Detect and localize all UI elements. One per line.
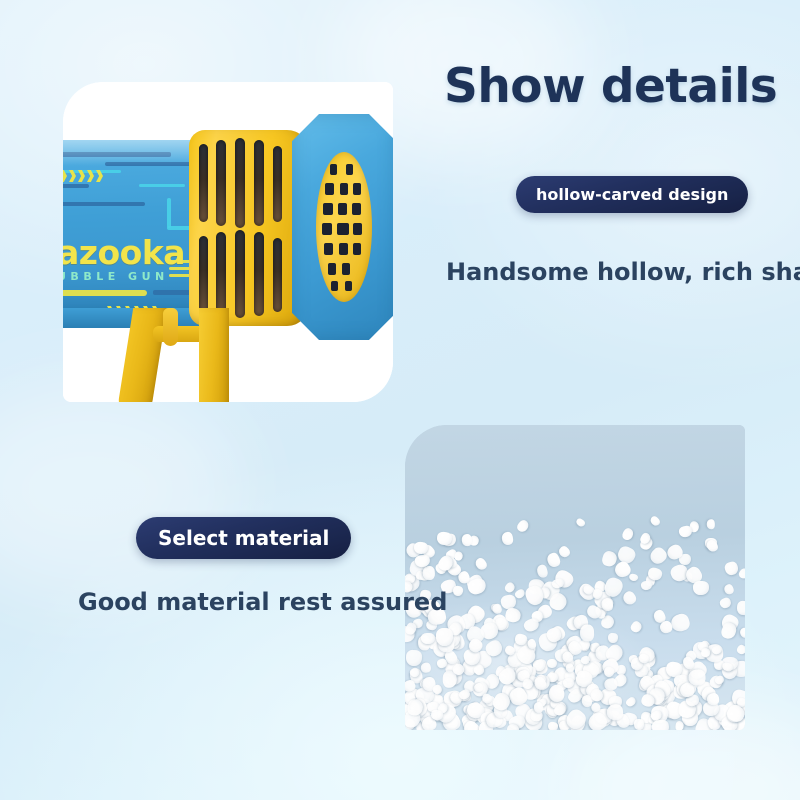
pellet [580,694,592,707]
pellet [608,633,619,644]
product-photo-card: azooka UBBLE GUN [63,82,393,402]
hollow-carved-grille [316,152,372,302]
pellet [575,517,586,528]
pellet [648,515,661,528]
pellet [607,703,624,720]
pellet [670,612,692,634]
badge-select-material: Select material [136,517,351,559]
pellet [641,580,653,590]
pellet [461,533,472,546]
gun-muzzle-plate [292,114,393,340]
pellet [515,518,531,534]
pellet [533,701,543,713]
pellet [421,633,435,644]
pellet [421,662,432,674]
gun-grip [199,308,229,402]
pellet-pile [405,510,745,730]
bubble-gun-illustration: azooka UBBLE GUN [63,112,393,402]
pellet [535,564,548,579]
pellet [735,643,745,656]
product-brand-subtitle: UBBLE GUN [63,271,169,282]
pellet [501,531,514,546]
pellet [651,719,670,730]
pellet [580,625,594,642]
pellet [719,596,733,610]
pellet [436,531,452,545]
background-glow-left [0,380,240,600]
pellet [629,620,644,635]
subtitle-select-material: Good material rest assured [78,588,447,616]
pellet [629,573,640,583]
product-photo: azooka UBBLE GUN [63,82,393,402]
pellet [604,678,618,692]
material-photo-card [405,425,745,730]
pellet [724,560,740,576]
chevron-stripe-top [63,170,121,182]
pellet [736,600,745,615]
pellet [707,519,715,529]
pellet [452,585,464,597]
pellet [422,566,435,580]
pellet [634,719,644,730]
pellet [625,696,638,708]
pellet [647,545,669,567]
pellet [737,567,745,580]
pellet [693,581,709,595]
pellet [723,583,735,596]
subtitle-hollow: Handsome hollow, rich shape [446,258,800,286]
pellet [405,650,422,667]
pellet [738,627,745,639]
material-photo [405,425,745,730]
product-brand-name: azooka [63,236,185,269]
badge-hollow-carved-design: hollow-carved design [516,176,748,213]
pellet [621,526,636,542]
page-title: Show details [444,62,788,111]
pellet [675,721,684,730]
product-detail-page: azooka UBBLE GUN [0,0,800,800]
gun-trigger [163,308,178,346]
pellet [453,550,463,561]
pellet [620,589,637,607]
pellet [547,659,557,668]
gun-barrel-shroud [189,130,309,326]
pellet [473,556,488,572]
pellet [546,551,562,568]
